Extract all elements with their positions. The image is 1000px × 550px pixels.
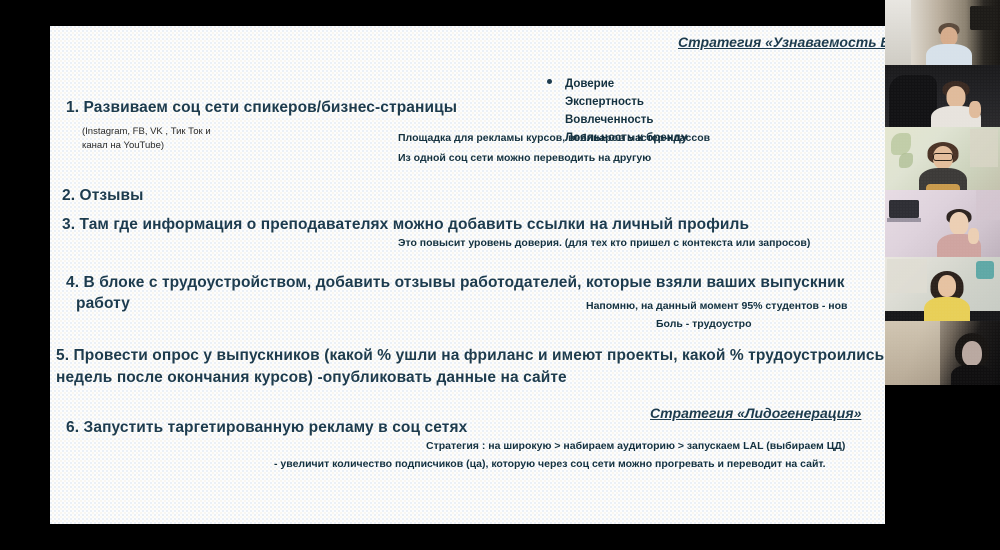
slide-item-4-note-1: Напомню, на данный момент 95% студентов …: [586, 298, 848, 314]
slide-item-4-title-line2: работу: [76, 293, 130, 315]
slide-item-5-title-line2: недель после окончания курсов) -опублико…: [56, 367, 567, 389]
slide-item-6-note-1: Стратегия : на широкую > набираем аудито…: [426, 438, 845, 454]
bullet-dot-icon: [547, 79, 552, 84]
video-tile-participant-6[interactable]: [885, 321, 1000, 385]
slide-item-1-title: 1. Развиваем соц сети спикеров/бизнес-ст…: [66, 97, 457, 119]
strategy-heading-brand-awareness: Стратегия «Узнаваемость Бр: [678, 34, 885, 50]
screen-share-stage: Стратегия «Узнаваемость Бр Доверие Экспе…: [0, 0, 1000, 550]
slide-item-1-note-1: Площадка для рекламы курсов, вебинаров м…: [398, 130, 710, 146]
list-item: Экспертность: [565, 93, 687, 111]
slide-item-3-title: 3. Там где информация о преподавателях м…: [62, 214, 749, 236]
slide-item-1-note-2: Из одной соц сети можно переводить на др…: [398, 150, 651, 166]
slide-item-6-title: 6. Запустить таргетированную рекламу в с…: [66, 417, 467, 439]
presentation-slide: Стратегия «Узнаваемость Бр Доверие Экспе…: [50, 26, 885, 524]
video-tile-participant-5[interactable]: [885, 257, 1000, 321]
list-item: Вовлеченность: [565, 111, 687, 129]
participant-video-rail: [885, 0, 1000, 550]
video-tile-participant-3[interactable]: [885, 127, 1000, 190]
slide-item-5-title: 5. Провести опрос у выпускников (какой %…: [56, 345, 885, 367]
slide-item-2-title: 2. Отзывы: [62, 185, 144, 207]
list-item: Доверие: [565, 75, 687, 93]
slide-item-3-note-1: Это повысит уровень доверия. (для тех кт…: [398, 235, 810, 251]
slide-item-1-platform-note: (Instagram, FB, VK , Тик Ток и канал на …: [82, 125, 211, 153]
slide-item-6-note-2: - увеличит количество подписчиков (ца), …: [274, 456, 826, 472]
strategy-heading-lead-generation: Стратегия «Лидогенерация»: [650, 405, 861, 421]
video-tile-participant-2[interactable]: [885, 65, 1000, 127]
slide-item-4-note-2: Боль - трудоустро: [656, 316, 751, 332]
slide-item-4-title: 4. В блоке с трудоустройством, добавить …: [66, 272, 845, 294]
video-tile-participant-1[interactable]: [885, 0, 1000, 65]
video-tile-participant-4[interactable]: [885, 190, 1000, 257]
